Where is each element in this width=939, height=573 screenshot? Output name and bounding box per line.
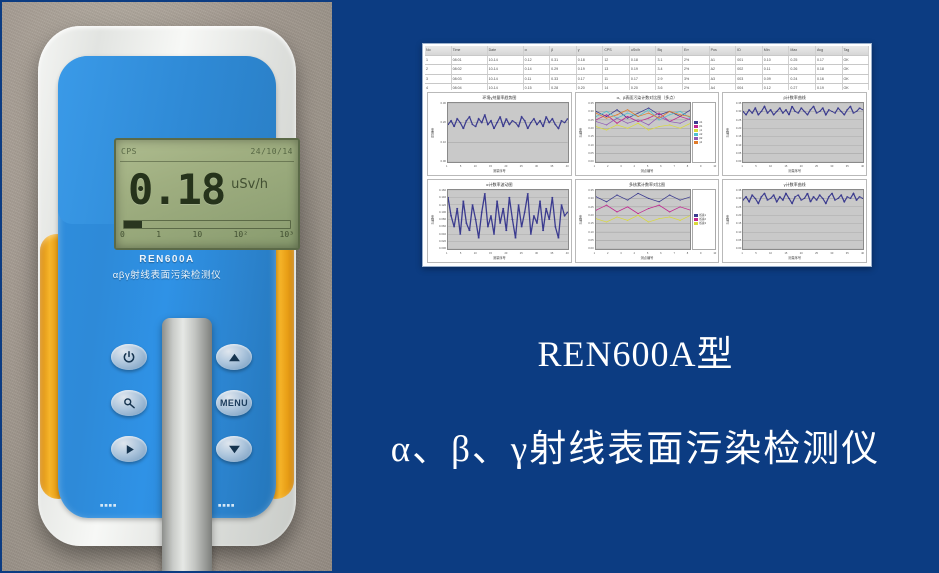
chart-body: 计数率0.1600.1400.1200.1000.0800.0600.0400.… [428, 189, 571, 251]
legend-label: 核素2 [699, 218, 706, 221]
table-cell: 004 [736, 84, 763, 90]
table-cell: 0.25 [789, 56, 816, 65]
chart-y-tick: 0.15 [730, 222, 741, 225]
chart-y-tick: 0.10 [730, 144, 741, 147]
chart-y-tick: 0.30 [730, 110, 741, 113]
device-footer-right: ■■■■ [218, 503, 235, 509]
lcd-bargraph [123, 220, 291, 229]
chart-y-tick: 0.15 [583, 135, 594, 138]
table-row: 408:0410-140.150.280.20140.203.62%A40040… [425, 84, 869, 90]
chart-y-ticks: 0.300.200.100.00 [435, 102, 447, 163]
chart-y-tick: 0.05 [583, 239, 594, 242]
lcd-scale: 011010²10³ [120, 230, 294, 244]
legend-label: 核素1 [699, 214, 706, 217]
table-cell: 0.18 [816, 65, 843, 74]
table-cell: 2.9 [656, 75, 683, 84]
power-button[interactable] [111, 344, 147, 370]
device-footer-left: ■■■■ [100, 503, 117, 509]
chart-y-tick: 0.00 [730, 160, 741, 163]
legend-item: β2 [694, 137, 714, 140]
table-cell: 0.11 [524, 75, 551, 84]
chart-y-ticks: 0.350.300.250.200.150.100.050.00 [730, 102, 742, 163]
table-cell: A3 [710, 75, 737, 84]
legend-swatch [694, 214, 698, 217]
lcd-status-right: 24/10/14 [250, 147, 293, 156]
chart-card: α计数率波动图计数率0.1600.1400.1200.1000.0800.060… [427, 179, 572, 263]
chart-y-tick: 0.00 [730, 247, 741, 250]
chart-y-tick: 0.25 [730, 206, 741, 209]
table-cell: 2 [425, 65, 452, 74]
chart-y-tick: 0.25 [730, 119, 741, 122]
chart-y-tick: 0.15 [583, 222, 594, 225]
table-header-cell: Tag [843, 46, 869, 55]
chart-y-tick: 0.080 [435, 218, 446, 221]
table-header-cell: β [550, 46, 577, 55]
table-cell: 0.17 [816, 56, 843, 65]
chart-plot-area [742, 102, 864, 163]
chart-body: 计数率0.350.300.250.200.150.100.050.00 [723, 189, 866, 251]
legend-swatch [694, 222, 698, 225]
chart-card: β计数率曲线计数率0.350.300.250.200.150.100.050.0… [722, 92, 867, 176]
chart-plot-area [595, 189, 692, 250]
legend-item: γ2 [694, 141, 714, 144]
legend-swatch [694, 125, 698, 128]
table-header-cell: α [524, 46, 551, 55]
table-cell: 08:03 [452, 75, 488, 84]
lcd-scale-tick: 10 [193, 230, 203, 239]
chart-title: α计数率波动图 [428, 180, 571, 189]
chart-x-axis-label: 测量序号 [723, 169, 866, 175]
legend-item: γ1 [694, 129, 714, 132]
chart-y-tick: 0.100 [435, 211, 446, 214]
table-header-cell: Pos [710, 46, 737, 55]
table-cell: 3.4 [656, 65, 683, 74]
chart-y-tick: 0.00 [583, 160, 594, 163]
device-branding: REN600A αβγ射线表面污染检测仪 [58, 254, 276, 281]
chart-y-tick: 0.10 [435, 141, 446, 144]
table-cell: OK [843, 56, 869, 65]
software-screenshot: NoTimeDateαβγCPSuSv/hBqErrPosIDMinMaxAvg… [422, 43, 872, 267]
lcd-display: CPS 24/10/14 0.18 uSv/h 011010²10³ [114, 138, 300, 250]
legend-label: α1 [699, 121, 702, 124]
table-cell: 0.17 [630, 75, 657, 84]
chart-y-tick: 0.35 [730, 102, 741, 105]
chart-title: 环境γ剂量率趋势图 [428, 93, 571, 102]
chart-card: 环境γ剂量率趋势图剂量率0.300.200.100.00151015202530… [427, 92, 572, 176]
table-cell: 0.29 [550, 65, 577, 74]
table-cell: 0.28 [550, 84, 577, 90]
table-header-cell: CPS [603, 46, 630, 55]
table-cell: 0.14 [524, 65, 551, 74]
table-cell: 3.1 [656, 56, 683, 65]
table-cell: 0.20 [577, 84, 604, 90]
chart-y-tick: 0.05 [730, 239, 741, 242]
down-button[interactable] [216, 436, 252, 462]
chart-y-tick: 0.30 [583, 110, 594, 113]
table-cell: 08:02 [452, 65, 488, 74]
legend-swatch [694, 121, 698, 124]
table-header-cell: Bq [656, 46, 683, 55]
device-model-label: REN600A [58, 254, 276, 265]
lcd-unit: uSv/h [231, 177, 268, 192]
lcd-scale-tick: 0 [120, 230, 125, 239]
device-body: CPS 24/10/14 0.18 uSv/h 011010²10³ RE [38, 26, 296, 546]
table-row: 208:0210-140.140.290.19130.193.42%A20020… [425, 65, 869, 75]
chart-y-tick: 0.25 [583, 119, 594, 122]
table-cell: 0.26 [789, 65, 816, 74]
table-cell: 0.12 [524, 56, 551, 65]
table-cell: 0.12 [763, 84, 790, 90]
chart-y-tick: 0.25 [583, 206, 594, 209]
charts-grid: 环境γ剂量率趋势图剂量率0.300.200.100.00151015202530… [427, 92, 867, 263]
chart-y-tick: 0.10 [583, 144, 594, 147]
legend-label: α2 [699, 133, 702, 136]
table-header-cell: Date [488, 46, 524, 55]
table-cell: 0.19 [577, 65, 604, 74]
table-cell: 0.24 [789, 75, 816, 84]
chart-y-tick: 0.20 [730, 127, 741, 130]
table-cell: 0.18 [630, 56, 657, 65]
table-row: 108:0110-140.120.310.18120.183.12%A10010… [425, 56, 869, 66]
device-chinese-label: αβγ射线表面污染检测仪 [58, 267, 276, 281]
table-cell: 2% [683, 84, 710, 90]
table-header-cell: uSv/h [630, 46, 657, 55]
legend-swatch [694, 141, 698, 144]
table-cell: 0.11 [763, 65, 790, 74]
chart-body: 计数率0.350.300.250.200.150.100.050.00 [723, 102, 866, 164]
lcd-scale-tick: 10³ [280, 230, 294, 239]
table-header-cell: Avg [816, 46, 843, 55]
table-header-row: NoTimeDateαβγCPSuSv/hBqErrPosIDMinMaxAvg… [425, 46, 869, 56]
chart-plot-area [447, 189, 569, 250]
chart-y-tick: 0.20 [730, 214, 741, 217]
table-cell: OK [843, 84, 869, 90]
lcd-status-left: CPS [121, 147, 137, 156]
chart-y-tick: 0.20 [583, 127, 594, 130]
chart-y-tick: 0.05 [730, 152, 741, 155]
legend-label: γ2 [699, 141, 702, 144]
table-cell: 3% [683, 75, 710, 84]
legend-item: α1 [694, 121, 714, 124]
legend-item: α2 [694, 133, 714, 136]
chart-card: α、β表面污染计数对比图（多点）计数率0.350.300.250.200.150… [575, 92, 720, 176]
legend-item: β1 [694, 125, 714, 128]
chart-y-tick: 0.05 [583, 152, 594, 155]
table-cell: 0.10 [763, 56, 790, 65]
chart-body: 计数率0.350.300.250.200.150.100.050.00核素1核素… [576, 189, 719, 251]
table-cell: A4 [710, 84, 737, 90]
legend-label: γ1 [699, 129, 702, 132]
device-front-panel: CPS 24/10/14 0.18 uSv/h 011010²10³ RE [58, 56, 276, 518]
chart-y-tick: 0.30 [730, 197, 741, 200]
table-cell: 0.15 [524, 84, 551, 90]
table-cell: 0.19 [816, 84, 843, 90]
chart-y-tick: 0.20 [583, 214, 594, 217]
product-photo: CPS 24/10/14 0.18 uSv/h 011010²10³ RE [2, 2, 332, 571]
chart-y-tick: 0.000 [435, 247, 446, 250]
table-header-cell: γ [577, 46, 604, 55]
backlight-button[interactable] [111, 390, 147, 416]
table-cell: 4 [425, 84, 452, 90]
table-cell: 003 [736, 75, 763, 84]
chart-x-axis-label: 测点编号 [576, 256, 719, 262]
table-cell: 0.16 [816, 75, 843, 84]
device-handle [162, 318, 212, 571]
chart-plot-area [742, 189, 864, 250]
chart-x-axis-label: 测量序号 [428, 169, 571, 175]
chart-y-tick: 0.35 [730, 189, 741, 192]
table-cell: 0.20 [630, 84, 657, 90]
chart-y-tick: 0.00 [435, 160, 446, 163]
table-cell: 0.09 [763, 75, 790, 84]
chart-title: β计数率曲线 [723, 93, 866, 102]
chart-y-tick: 0.35 [583, 102, 594, 105]
chart-y-axis-label: 计数率 [725, 128, 730, 138]
chart-y-tick: 0.30 [435, 102, 446, 105]
chart-legend: 核素1核素2核素3 [692, 189, 716, 250]
chart-legend: α1β1γ1α2β2γ2 [692, 102, 716, 163]
poster-root: CPS 24/10/14 0.18 uSv/h 011010²10³ RE [0, 0, 939, 573]
table-cell: OK [843, 75, 869, 84]
chart-title: 多核素计数率对比图 [576, 180, 719, 189]
table-cell: 1 [425, 56, 452, 65]
chart-y-tick: 0.120 [435, 204, 446, 207]
chart-y-tick: 0.15 [730, 135, 741, 138]
lcd-scale-tick: 10² [234, 230, 248, 239]
chart-y-tick: 0.160 [435, 189, 446, 192]
table-cell: 2% [683, 56, 710, 65]
up-button[interactable] [216, 344, 252, 370]
table-header-cell: Time [452, 46, 488, 55]
table-cell: 10-14 [488, 56, 524, 65]
legend-item: 核素2 [694, 218, 714, 221]
chart-y-tick: 0.060 [435, 225, 446, 228]
menu-button-label: MENU [220, 398, 248, 408]
table-header-cell: No [425, 46, 452, 55]
table-cell: 002 [736, 65, 763, 74]
table-cell: 10-14 [488, 75, 524, 84]
lcd-divider [120, 161, 294, 162]
table-cell: 08:04 [452, 84, 488, 90]
legend-item: 核素3 [694, 222, 714, 225]
lcd-scale-tick: 1 [156, 230, 161, 239]
table-cell: 10-14 [488, 65, 524, 74]
chart-y-tick: 0.020 [435, 240, 446, 243]
start-button[interactable] [111, 436, 147, 462]
table-cell: 08:01 [452, 56, 488, 65]
chart-y-tick: 0.30 [583, 197, 594, 200]
table-cell: 13 [603, 65, 630, 74]
table-cell: 0.31 [550, 56, 577, 65]
chart-y-tick: 0.00 [583, 247, 594, 250]
chart-y-ticks: 0.350.300.250.200.150.100.050.00 [583, 102, 595, 163]
table-header-cell: ID [736, 46, 763, 55]
chart-y-tick: 0.10 [730, 231, 741, 234]
chart-x-axis-label: 测量序号 [723, 256, 866, 262]
chart-y-axis-label: 剂量率 [430, 128, 435, 138]
table-cell: OK [843, 65, 869, 74]
lcd-bargraph-fill [124, 221, 142, 228]
chart-plot-area [447, 102, 569, 163]
chart-y-axis-label: 计数率 [725, 215, 730, 225]
table-cell: 0.19 [630, 65, 657, 74]
caption-description: α、β、γ射线表面污染检测仪 [332, 418, 939, 472]
chart-x-axis-label: 测点编号 [576, 169, 719, 175]
table-cell: A2 [710, 65, 737, 74]
chart-x-axis-label: 测量序号 [428, 256, 571, 262]
lcd-status-bar: CPS 24/10/14 [121, 143, 293, 160]
chart-y-tick: 0.35 [583, 189, 594, 192]
chart-y-tick: 0.040 [435, 233, 446, 236]
table-header-cell: Max [789, 46, 816, 55]
table-cell: 10-14 [488, 84, 524, 90]
chart-y-tick: 0.20 [435, 121, 446, 124]
chart-title: α、β表面污染计数对比图（多点） [576, 93, 719, 102]
chart-plot-area [595, 102, 692, 163]
table-header-cell: Min [763, 46, 790, 55]
chart-y-ticks: 0.350.300.250.200.150.100.050.00 [583, 189, 595, 250]
chart-y-axis-label: 计数率 [430, 215, 435, 225]
table-cell: 001 [736, 56, 763, 65]
lcd-reading: 0.18 uSv/h [122, 164, 292, 216]
chart-y-tick: 0.10 [583, 231, 594, 234]
table-cell: 3.6 [656, 84, 683, 90]
chart-y-tick: 0.140 [435, 196, 446, 199]
table-cell: A1 [710, 56, 737, 65]
chart-title: γ计数率曲线 [723, 180, 866, 189]
legend-swatch [694, 218, 698, 221]
table-cell: 2% [683, 65, 710, 74]
data-table: NoTimeDateαβγCPSuSv/hBqErrPosIDMinMaxAvg… [425, 46, 869, 90]
chart-y-axis-label: 计数率 [578, 215, 583, 225]
legend-swatch [694, 137, 698, 140]
chart-y-axis-label: 计数率 [578, 128, 583, 138]
chart-body: 计数率0.350.300.250.200.150.100.050.00α1β1γ… [576, 102, 719, 164]
table-cell: 0.27 [789, 84, 816, 90]
table-cell: 0.17 [577, 75, 604, 84]
legend-label: β1 [699, 125, 702, 128]
legend-swatch [694, 129, 698, 132]
chart-card: γ计数率曲线计数率0.350.300.250.200.150.100.050.0… [722, 179, 867, 263]
table-cell: 0.18 [577, 56, 604, 65]
table-header-cell: Err [683, 46, 710, 55]
lcd-value: 0.18 [128, 169, 225, 211]
legend-label: 核素3 [699, 222, 706, 225]
chart-card: 多核素计数率对比图计数率0.350.300.250.200.150.100.05… [575, 179, 720, 263]
table-cell: 0.33 [550, 75, 577, 84]
menu-button[interactable]: MENU [216, 390, 252, 416]
legend-label: β2 [699, 137, 702, 140]
chart-y-ticks: 0.1600.1400.1200.1000.0800.0600.0400.020… [435, 189, 447, 250]
chart-y-ticks: 0.350.300.250.200.150.100.050.00 [730, 189, 742, 250]
legend-swatch [694, 133, 698, 136]
caption-model: REN600A型 [332, 325, 939, 377]
chart-body: 剂量率0.300.200.100.00 [428, 102, 571, 164]
legend-item: 核素1 [694, 214, 714, 217]
table-cell: 12 [603, 56, 630, 65]
table-cell: 3 [425, 75, 452, 84]
table-cell: 11 [603, 75, 630, 84]
table-row: 308:0310-140.110.330.17110.172.93%A30030… [425, 75, 869, 85]
table-cell: 14 [603, 84, 630, 90]
